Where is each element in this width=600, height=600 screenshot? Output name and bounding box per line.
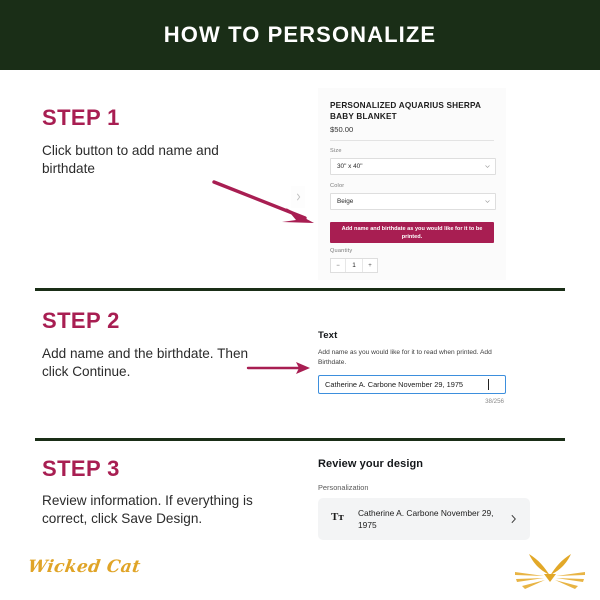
quantity-increment-button[interactable]: + <box>363 259 377 272</box>
size-select[interactable]: 30" x 40" <box>330 158 496 175</box>
product-card: PERSONALIZED AQUARIUS SHERPA BABY BLANKE… <box>318 88 506 280</box>
text-field-panel: Text Add name as you would like for it t… <box>318 330 510 405</box>
color-select-value: Beige <box>337 198 353 205</box>
product-title: PERSONALIZED AQUARIUS SHERPA BABY BLANKE… <box>330 100 494 122</box>
carousel-next-button[interactable] <box>291 186 305 208</box>
review-design-panel: Review your design Personalization Tᴛ Ca… <box>318 458 530 540</box>
text-caret <box>488 379 489 390</box>
step-3-body: Review information. If everything is cor… <box>42 492 287 528</box>
chevron-right-icon <box>296 193 301 201</box>
step-3-title: STEP 3 <box>42 456 120 482</box>
step-1-title: STEP 1 <box>42 105 120 131</box>
personalization-summary-card[interactable]: Tᴛ Catherine A. Carbone November 29, 197… <box>318 498 530 540</box>
size-label: Size <box>330 148 342 154</box>
quantity-value: 1 <box>345 259 363 272</box>
chevron-down-icon <box>485 164 490 169</box>
color-select[interactable]: Beige <box>330 193 496 210</box>
step-1-body: Click button to add name and birthdate <box>42 142 257 178</box>
review-design-title: Review your design <box>318 458 530 470</box>
character-counter: 38/256 <box>318 398 504 405</box>
page-header: HOW TO PERSONALIZE <box>0 0 600 70</box>
text-format-icon: Tᴛ <box>331 511 344 523</box>
quantity-stepper[interactable]: − 1 + <box>330 258 378 273</box>
text-field-help: Add name as you would like for it to rea… <box>318 348 504 367</box>
chevron-right-icon <box>510 514 517 524</box>
step-2-body: Add name and the birthdate. Then click C… <box>42 345 267 381</box>
quantity-decrement-button[interactable]: − <box>331 259 345 272</box>
add-name-birthdate-button[interactable]: Add name and birthdate as you would like… <box>330 222 494 243</box>
brand-wordmark: Wicked Cat <box>27 557 142 577</box>
product-price: $50.00 <box>330 125 353 134</box>
card-divider <box>330 140 494 141</box>
page-title: HOW TO PERSONALIZE <box>164 22 436 48</box>
quantity-label: Quantity <box>330 248 352 254</box>
size-select-value: 30" x 40" <box>337 163 363 170</box>
step-2-title: STEP 2 <box>42 308 120 334</box>
personalization-text-input[interactable]: Catherine A. Carbone November 29, 1975 <box>318 375 506 394</box>
personalization-text-value: Catherine A. Carbone November 29, 1975 <box>325 380 463 389</box>
chevron-down-icon <box>485 199 490 204</box>
personalization-label: Personalization <box>318 483 530 492</box>
cat-face-icon <box>513 548 587 594</box>
personalization-summary-text: Catherine A. Carbone November 29, 1975 <box>358 507 508 531</box>
section-divider-2 <box>35 438 565 441</box>
step-2-arrow-icon <box>246 359 314 377</box>
text-field-title: Text <box>318 330 510 341</box>
color-label: Color <box>330 183 344 189</box>
section-divider-1 <box>35 288 565 291</box>
